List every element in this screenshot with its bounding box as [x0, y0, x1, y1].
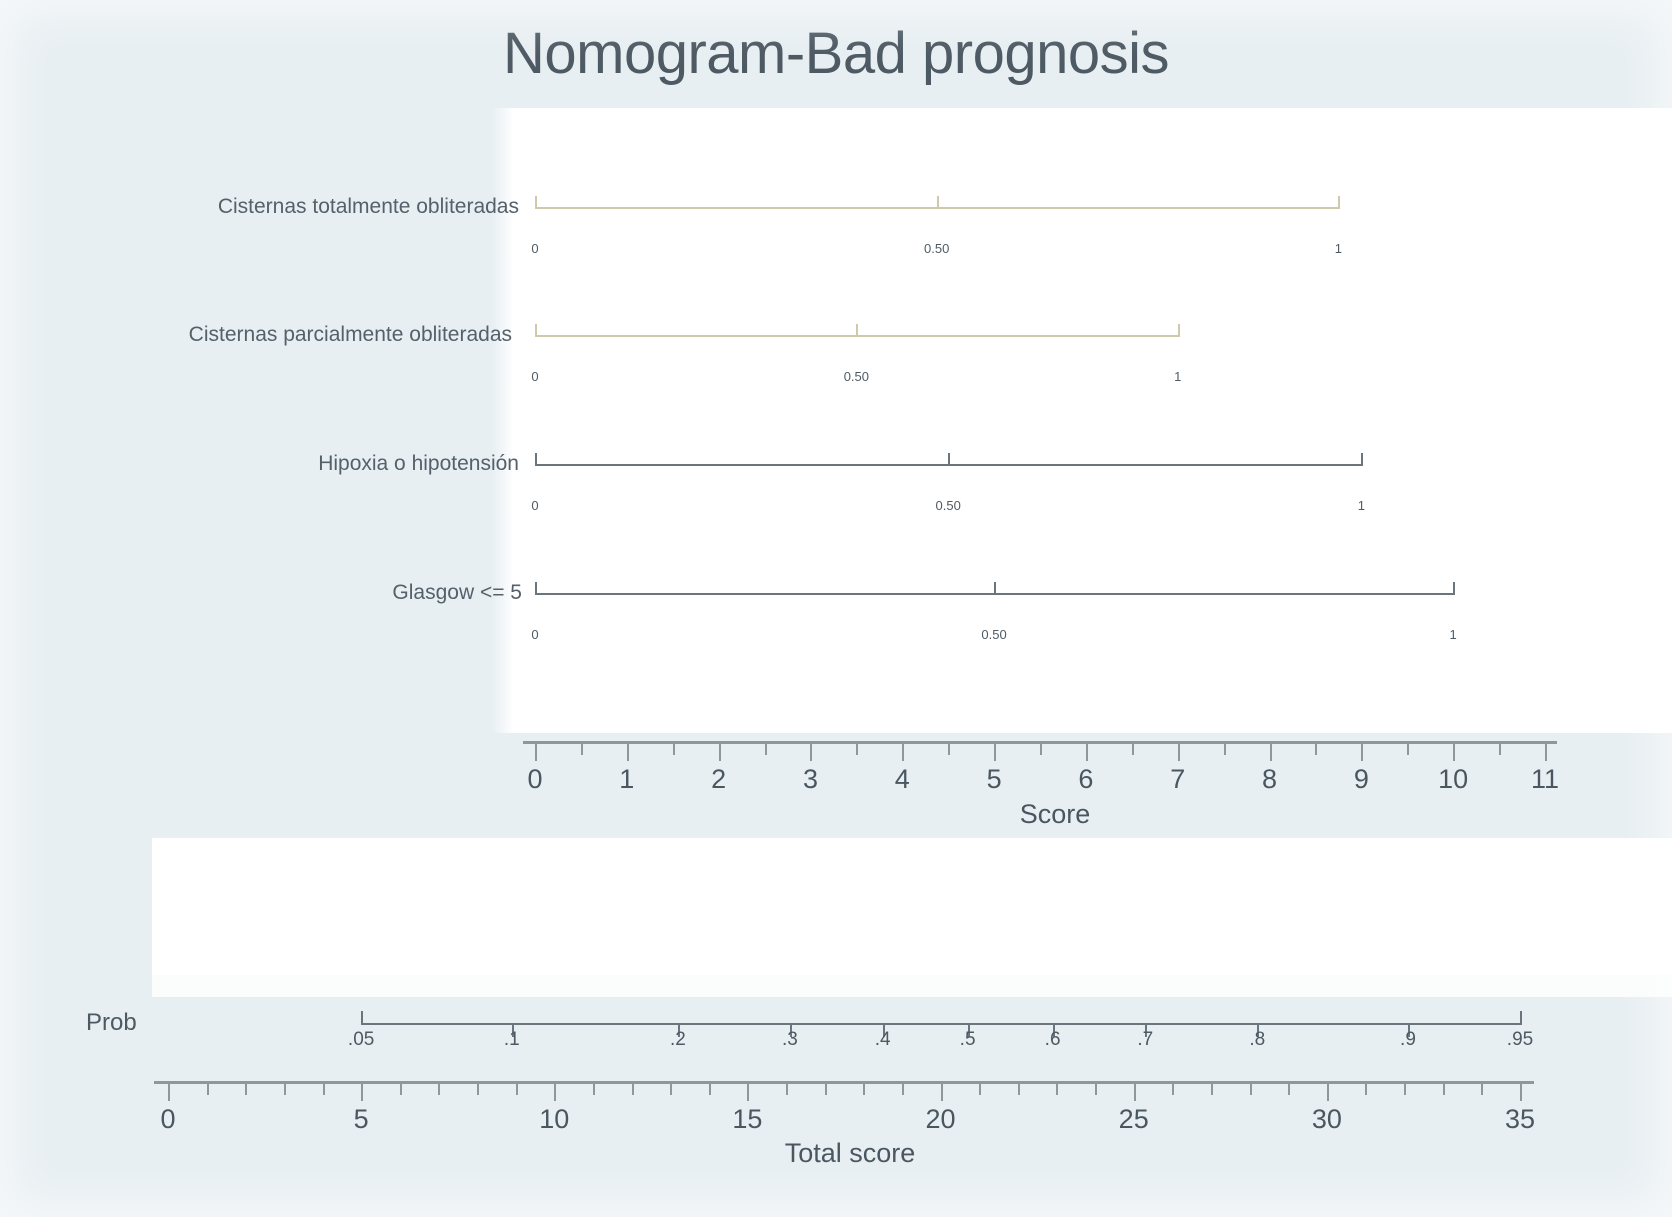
- total-score-minor-tick-24: [1095, 1084, 1097, 1095]
- predictor-ticklabel-3-2: 1: [1450, 627, 1457, 642]
- total-score-minor-tick-4: [323, 1084, 325, 1095]
- score-tick-label-1: 1: [619, 764, 634, 795]
- prob-tick-label-8: .8: [1249, 1029, 1265, 1051]
- prob-tick-10: [1520, 1011, 1522, 1025]
- total-score-minor-tick-34: [1481, 1084, 1483, 1095]
- total-score-minor-tick-16: [786, 1084, 788, 1095]
- total-score-minor-tick-33: [1443, 1084, 1445, 1095]
- predictor-ticklabel-0-1: 0.50: [924, 241, 949, 256]
- score-minor-tick-10: [1499, 744, 1501, 755]
- predictor-ticklabel-3-0: 0: [531, 627, 538, 642]
- total-score-minor-tick-2: [245, 1084, 247, 1095]
- predictor-ticklabel-1-1: 0.50: [844, 369, 869, 384]
- total-score-minor-tick-12: [632, 1084, 634, 1095]
- predictor-label-1: Cisternas parcialmente obliteradas: [189, 323, 512, 347]
- predictor-endcap-0-0: [535, 196, 537, 209]
- score-major-tick-4: [902, 744, 904, 761]
- total-score-minor-tick-7: [438, 1084, 440, 1095]
- score-tick-label-8: 8: [1262, 764, 1277, 795]
- score-minor-tick-4: [948, 744, 950, 755]
- score-minor-tick-2: [765, 744, 767, 755]
- score-tick-label-2: 2: [711, 764, 726, 795]
- total-score-minor-tick-29: [1288, 1084, 1290, 1095]
- total-score-major-tick-0: [168, 1084, 170, 1101]
- predictor-midtick-3: [994, 582, 996, 594]
- prob-tick-label-2: .2: [670, 1029, 686, 1051]
- score-minor-tick-7: [1224, 744, 1226, 755]
- predictor-ticklabel-2-0: 0: [531, 498, 538, 513]
- total-score-minor-tick-31: [1365, 1084, 1367, 1095]
- predictor-ticklabel-0-2: 1: [1335, 241, 1342, 256]
- predictor-ticklabel-3-1: 0.50: [981, 627, 1006, 642]
- score-axis-title: Score: [1020, 799, 1091, 830]
- predictor-ticklabel-0-0: 0: [531, 241, 538, 256]
- predictor-label-0: Cisternas totalmente obliteradas: [218, 195, 519, 219]
- total-score-minor-tick-3: [284, 1084, 286, 1095]
- score-tick-label-11: 11: [1531, 764, 1559, 795]
- predictor-endcap-3-1: [1453, 582, 1455, 595]
- prob-tick-label-10: .95: [1507, 1029, 1533, 1051]
- total-score-minor-tick-11: [593, 1084, 595, 1095]
- prob-tick-0: [361, 1011, 363, 1025]
- predictor-label-2: Hipoxia o hipotensión: [318, 452, 519, 476]
- score-minor-tick-8: [1315, 744, 1317, 755]
- total-score-major-tick-35: [1520, 1084, 1522, 1101]
- score-major-tick-11: [1545, 744, 1547, 761]
- total-score-minor-tick-9: [516, 1084, 518, 1095]
- prob-panel: [152, 838, 1672, 990]
- predictor-endcap-1-1: [1178, 324, 1180, 337]
- prob-axis-label: Prob: [86, 1009, 137, 1037]
- prob-tick-label-1: .1: [504, 1029, 520, 1051]
- total-score-minor-tick-8: [477, 1084, 479, 1095]
- score-tick-label-4: 4: [895, 764, 910, 795]
- score-tick-label-10: 10: [1438, 764, 1468, 795]
- total-score-minor-tick-22: [1018, 1084, 1020, 1095]
- score-tick-label-3: 3: [803, 764, 818, 795]
- total-score-minor-tick-1: [207, 1084, 209, 1095]
- total-score-minor-tick-21: [979, 1084, 981, 1095]
- score-major-tick-5: [994, 744, 996, 761]
- nomogram-figure: Nomogram-Bad prognosis Cisternas totalme…: [0, 0, 1672, 1217]
- total-score-tick-label-25: 25: [1119, 1104, 1149, 1135]
- prob-tick-label-5: .5: [960, 1029, 976, 1051]
- total-score-minor-tick-27: [1211, 1084, 1213, 1095]
- predictor-endcap-2-1: [1361, 453, 1363, 466]
- score-tick-label-6: 6: [1078, 764, 1093, 795]
- score-minor-tick-6: [1132, 744, 1134, 755]
- score-tick-label-7: 7: [1170, 764, 1185, 795]
- total-score-tick-label-0: 0: [160, 1104, 175, 1135]
- total-score-major-tick-10: [554, 1084, 556, 1101]
- score-major-tick-6: [1086, 744, 1088, 761]
- score-major-tick-2: [719, 744, 721, 761]
- score-tick-label-5: 5: [987, 764, 1002, 795]
- total-score-minor-tick-28: [1250, 1084, 1252, 1095]
- predictor-endcap-0-1: [1338, 196, 1340, 209]
- total-score-minor-tick-17: [825, 1084, 827, 1095]
- score-tick-label-0: 0: [527, 764, 542, 795]
- total-score-minor-tick-6: [400, 1084, 402, 1095]
- total-score-tick-label-20: 20: [926, 1104, 956, 1135]
- total-score-tick-label-5: 5: [354, 1104, 369, 1135]
- total-score-tick-label-30: 30: [1312, 1104, 1342, 1135]
- total-score-tick-label-35: 35: [1505, 1104, 1535, 1135]
- total-score-major-tick-5: [361, 1084, 363, 1101]
- page-title: Nomogram-Bad prognosis: [0, 20, 1672, 87]
- score-major-tick-10: [1453, 744, 1455, 761]
- total-score-minor-tick-23: [1056, 1084, 1058, 1095]
- predictor-midtick-0: [937, 196, 939, 208]
- score-major-tick-0: [535, 744, 537, 761]
- total-score-minor-tick-13: [670, 1084, 672, 1095]
- prob-axis-line: [361, 1023, 1520, 1025]
- total-score-minor-tick-14: [709, 1084, 711, 1095]
- total-score-axis-title: Total score: [785, 1138, 916, 1169]
- score-minor-tick-0: [581, 744, 583, 755]
- score-tick-label-9: 9: [1354, 764, 1369, 795]
- prob-tick-label-4: .4: [875, 1029, 891, 1051]
- score-major-tick-8: [1270, 744, 1272, 761]
- total-score-minor-tick-18: [863, 1084, 865, 1095]
- prob-tick-label-6: .6: [1045, 1029, 1061, 1051]
- score-minor-tick-9: [1407, 744, 1409, 755]
- score-minor-tick-3: [856, 744, 858, 755]
- predictor-endcap-3-0: [535, 582, 537, 595]
- predictor-ticklabel-2-2: 1: [1358, 498, 1365, 513]
- prob-tick-label-3: .3: [782, 1029, 798, 1051]
- total-score-tick-label-10: 10: [539, 1104, 569, 1135]
- predictor-midtick-2: [948, 453, 950, 465]
- predictor-label-3: Glasgow <= 5: [392, 581, 522, 605]
- score-major-tick-3: [810, 744, 812, 761]
- total-score-minor-tick-19: [902, 1084, 904, 1095]
- total-score-minor-tick-26: [1172, 1084, 1174, 1095]
- score-minor-tick-1: [673, 744, 675, 755]
- total-score-tick-label-15: 15: [732, 1104, 762, 1135]
- score-minor-tick-5: [1040, 744, 1042, 755]
- score-major-tick-7: [1178, 744, 1180, 761]
- predictor-ticklabel-2-1: 0.50: [936, 498, 961, 513]
- predictor-ticklabel-1-2: 1: [1174, 369, 1181, 384]
- prob-tick-label-7: .7: [1137, 1029, 1153, 1051]
- total-score-minor-tick-32: [1404, 1084, 1406, 1095]
- score-major-tick-1: [627, 744, 629, 761]
- total-score-major-tick-25: [1134, 1084, 1136, 1101]
- prob-tick-label-0: .05: [348, 1029, 374, 1051]
- prob-panel-axis-strip: [152, 975, 1672, 997]
- predictor-panel: [512, 108, 1672, 733]
- predictor-endcap-1-0: [535, 324, 537, 337]
- predictor-midtick-1: [856, 324, 858, 336]
- total-score-major-tick-15: [747, 1084, 749, 1101]
- total-score-major-tick-20: [941, 1084, 943, 1101]
- prob-tick-label-9: .9: [1400, 1029, 1416, 1051]
- predictor-endcap-2-0: [535, 453, 537, 466]
- score-major-tick-9: [1361, 744, 1363, 761]
- predictor-ticklabel-1-0: 0: [531, 369, 538, 384]
- total-score-major-tick-30: [1327, 1084, 1329, 1101]
